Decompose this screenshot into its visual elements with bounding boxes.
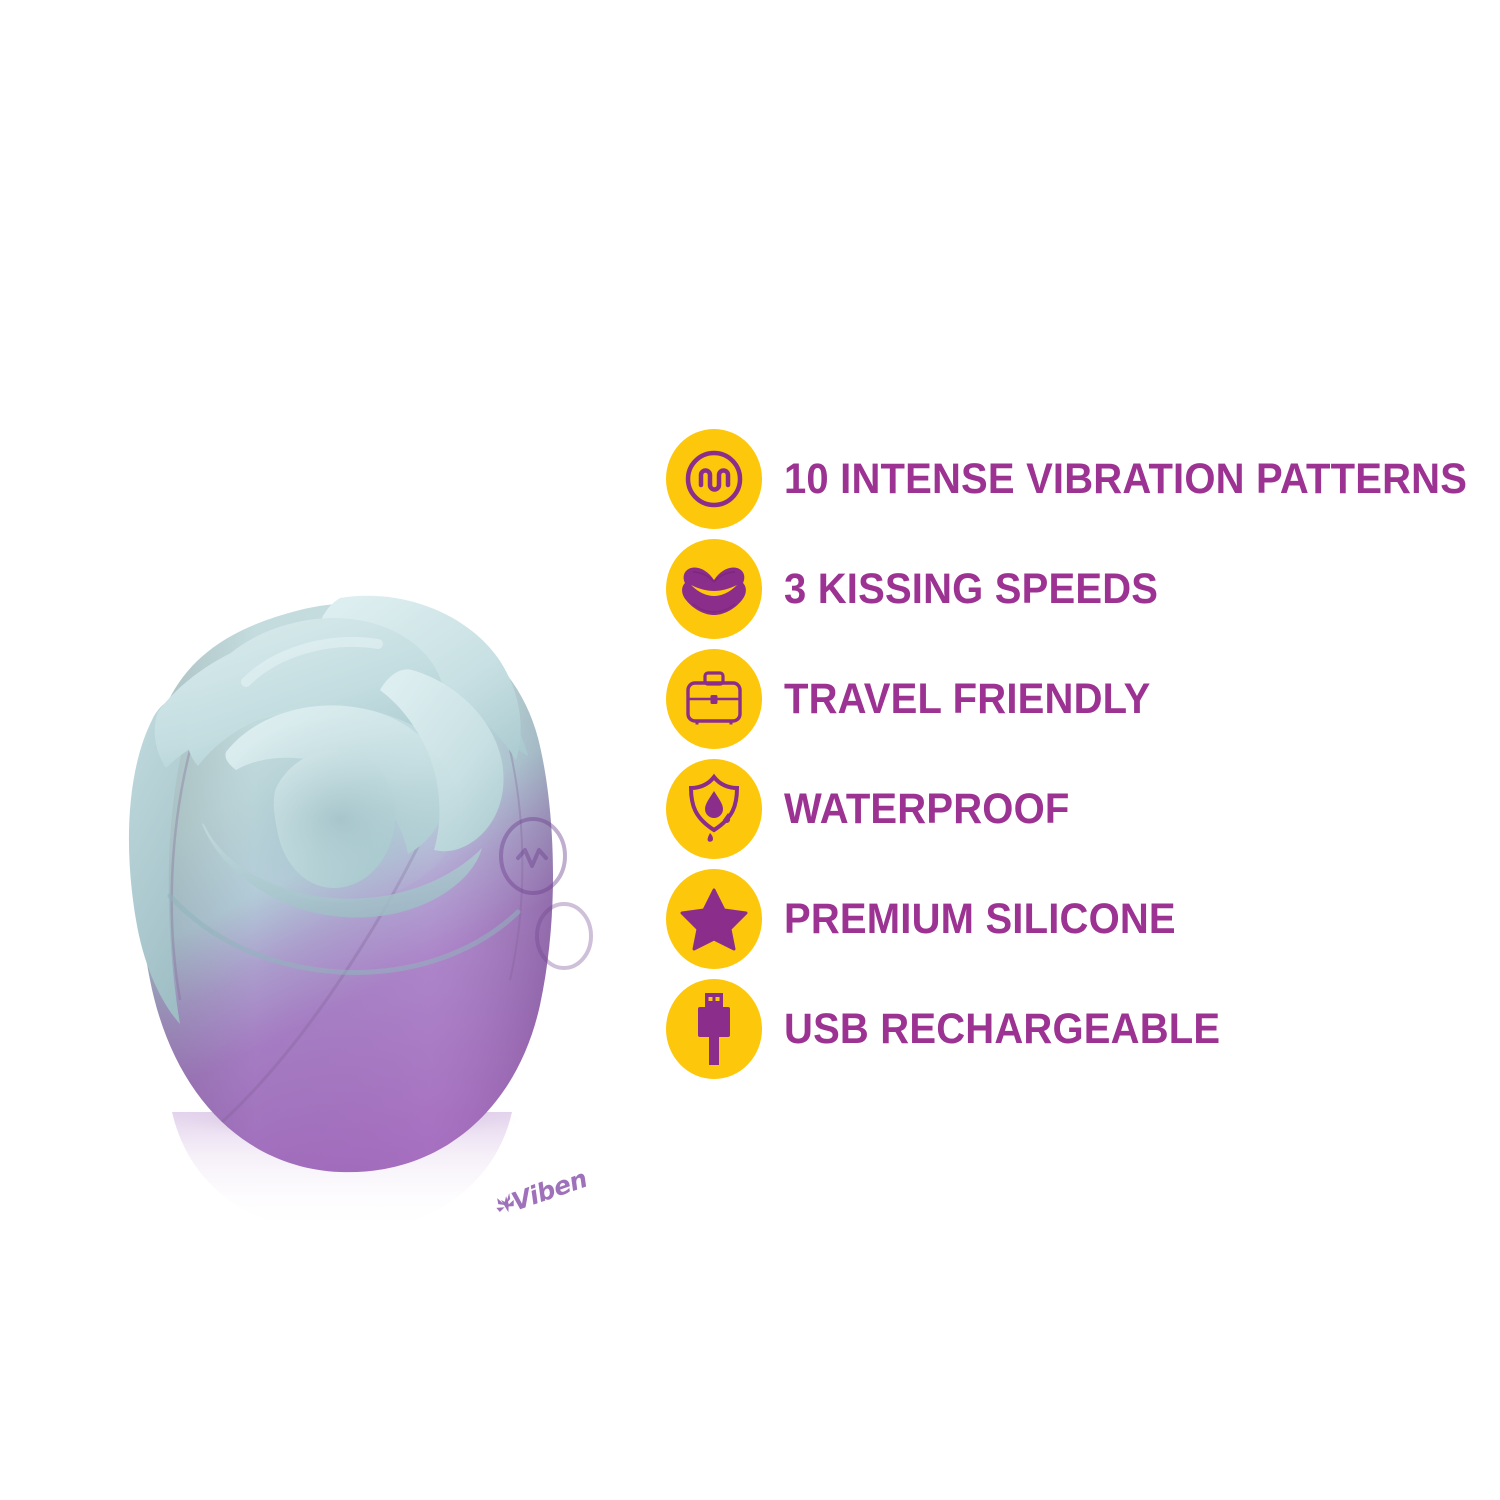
feature-label: TRAVEL FRIENDLY — [784, 678, 1150, 721]
feature-row: 10 INTENSE VIBRATION PATTERNS — [666, 424, 1456, 534]
feature-badge — [666, 979, 762, 1079]
feature-badge — [666, 759, 762, 859]
feature-badge — [666, 649, 762, 749]
shield-droplet-icon — [685, 773, 743, 845]
product-controls-overlay — [40, 420, 640, 1240]
power-button — [537, 904, 591, 968]
vibration-pattern-button — [501, 819, 565, 893]
feature-label: PREMIUM SILICONE — [784, 898, 1176, 941]
feature-label: USB RECHARGEABLE — [784, 1008, 1220, 1051]
feature-row: WATERPROOF — [666, 754, 1456, 864]
briefcase-icon — [683, 669, 745, 729]
usb-plug-icon — [692, 991, 736, 1067]
feature-list: 10 INTENSE VIBRATION PATTERNS 3 KISSING … — [666, 424, 1456, 1084]
vibration-waves-icon — [682, 447, 746, 511]
feature-row: 3 KISSING SPEEDS — [666, 534, 1456, 644]
feature-label: 3 KISSING SPEEDS — [784, 568, 1158, 611]
feature-badge — [666, 539, 762, 639]
feature-badge — [666, 869, 762, 969]
product-feature-infographic: Viben 10 INTENSE VIBRATION PATTERNS — [0, 0, 1500, 1500]
star-icon — [680, 887, 748, 951]
feature-row: TRAVEL FRIENDLY — [666, 644, 1456, 754]
feature-badge — [666, 429, 762, 529]
lips-icon — [679, 558, 749, 620]
feature-row: PREMIUM SILICONE — [666, 864, 1456, 974]
product-panel: Viben — [40, 420, 640, 1240]
feature-label: WATERPROOF — [784, 788, 1069, 831]
feature-label: 10 INTENSE VIBRATION PATTERNS — [784, 458, 1467, 501]
feature-row: USB RECHARGEABLE — [666, 974, 1456, 1084]
